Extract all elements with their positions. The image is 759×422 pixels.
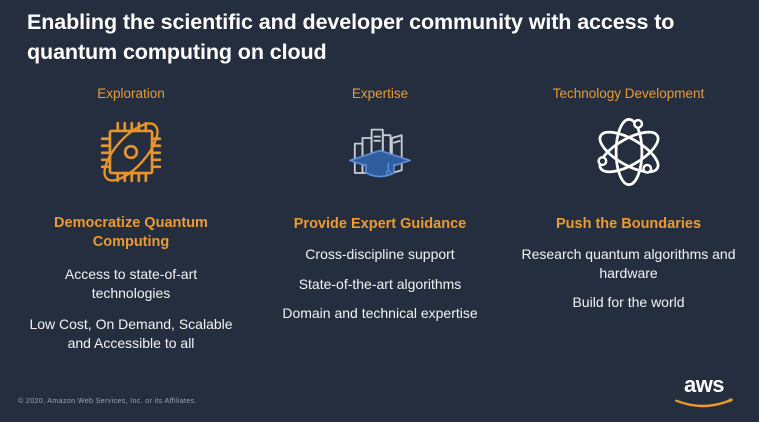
- column-header-technology-development: Technology Development: [553, 86, 705, 102]
- column-header-exploration: Exploration: [97, 86, 165, 102]
- bullet-expertise-1: Cross-discipline support: [295, 245, 464, 263]
- columns-container: Exploration: [0, 86, 759, 352]
- column-expertise: Expertise: [262, 86, 498, 323]
- copyright-text: © 2020, Amazon Web Services, Inc. or its…: [18, 396, 197, 405]
- atom-icon: [591, 108, 667, 196]
- bullet-expertise-2: State-of-the-art algorithms: [289, 275, 472, 293]
- bullet-exploration-2: Low Cost, On Demand, Scalable and Access…: [0, 315, 262, 352]
- aws-logo: aws: [671, 374, 737, 408]
- aws-wordmark: aws: [671, 374, 737, 396]
- page-title: Enabling the scientific and developer co…: [27, 8, 727, 67]
- bullet-exploration-1: Access to state-of-art technologies: [0, 265, 262, 302]
- subhead-democratize: Democratize Quantum Computing: [0, 214, 262, 252]
- quantum-chip-icon: [92, 108, 170, 196]
- column-technology-development: Technology Development Push the Boundari…: [498, 86, 759, 312]
- bullet-technology-2: Build for the world: [560, 293, 696, 311]
- slide-canvas: Enabling the scientific and developer co…: [0, 0, 759, 422]
- subhead-push-boundaries: Push the Boundaries: [534, 215, 723, 234]
- subhead-expert-guidance: Provide Expert Guidance: [272, 215, 488, 234]
- books-graduation-cap-icon: [345, 108, 415, 196]
- column-header-expertise: Expertise: [352, 86, 408, 102]
- aws-smile-icon: [671, 397, 737, 409]
- column-exploration: Exploration: [0, 86, 262, 352]
- bullet-expertise-3: Domain and technical expertise: [272, 304, 487, 322]
- bullet-technology-1: Research quantum algorithms and hardware: [498, 245, 759, 282]
